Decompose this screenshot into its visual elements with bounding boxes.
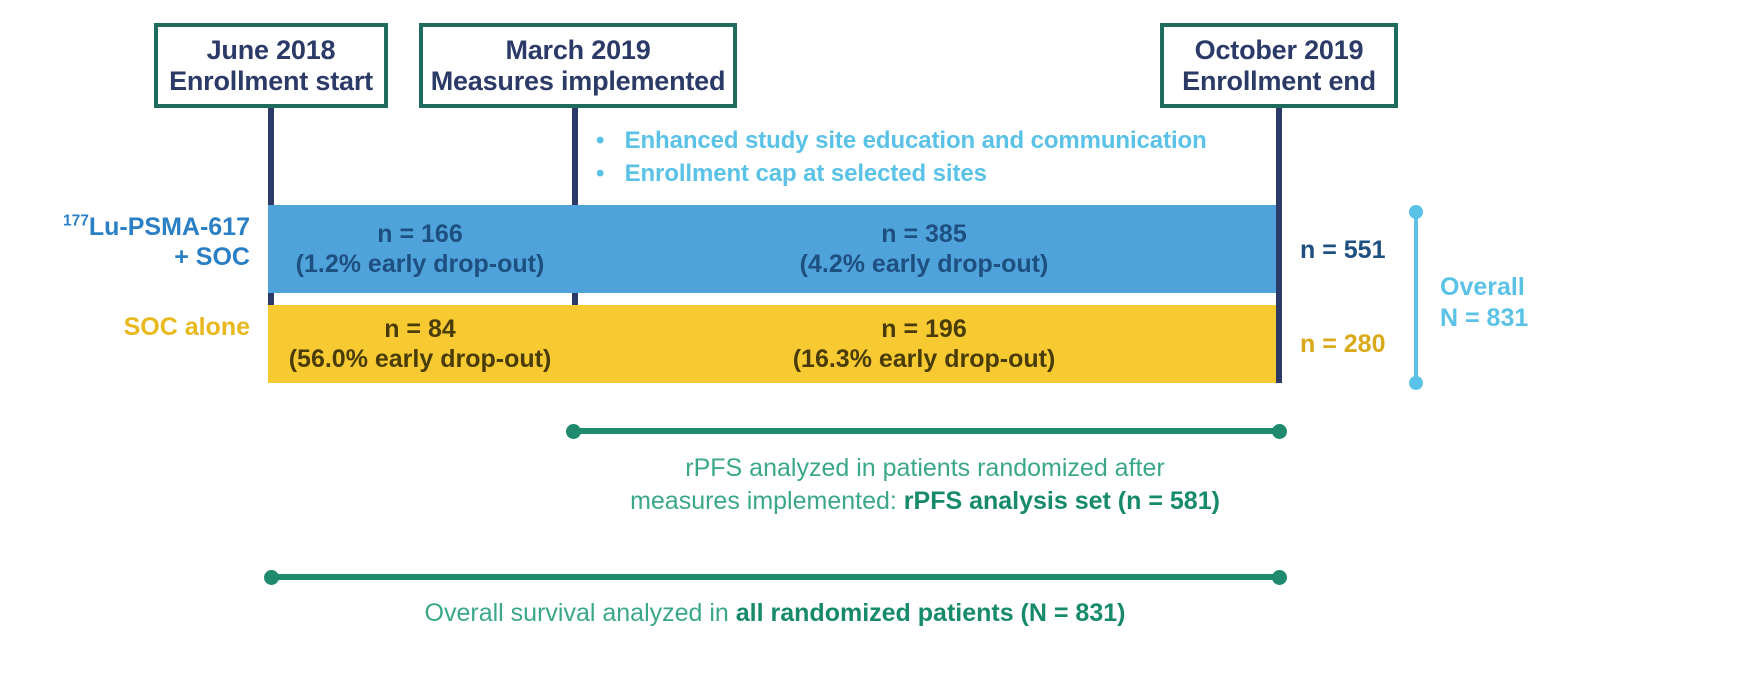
bullet-dot-icon: • [596,124,618,157]
band-soc-alone: n = 84 (56.0% early drop-out) n = 196 (1… [268,305,1276,383]
segment-count: n = 166 [377,219,462,250]
arm-total-lu-psma-617: n = 551 [1300,236,1385,265]
os-caption-bold: all randomized patients (N = 831) [736,599,1126,627]
segment-dropout: (4.2% early drop-out) [800,249,1049,280]
measures-bullet-item: • Enhanced study site education and comm… [596,124,1207,157]
arm-label-line-1: 177Lu-PSMA-617 [63,213,250,241]
milestone-box-enrollment-start: June 2018 Enrollment start [154,23,388,108]
segment-count: n = 196 [881,314,966,345]
os-caption-prefix: Overall survival analyzed in [425,599,736,627]
milestone-event: Enrollment start [158,66,384,97]
rpfs-caption-line-1: rPFS analyzed in patients randomized aft… [420,452,1430,485]
os-caption-line-1: Overall survival analyzed in all randomi… [270,597,1280,630]
trial-timeline-figure: June 2018 Enrollment start March 2019 Me… [0,0,1741,677]
arm-label-line-2: + SOC [174,243,250,271]
os-span-right-cap [1272,570,1287,585]
overall-bracket-bottom-cap [1409,376,1423,390]
milestone-event: Enrollment end [1164,66,1394,97]
measures-bullet-label: Enhanced study site education and commun… [625,127,1207,154]
rpfs-span-caption: rPFS analyzed in patients randomized aft… [420,452,1430,517]
arm-label-superscript: 177 [63,212,89,229]
milestone-date: June 2018 [207,35,336,65]
arm-label-lu-psma-617: 177Lu-PSMA-617 + SOC [0,212,250,272]
band-lu-psma-617: n = 166 (1.2% early drop-out) n = 385 (4… [268,205,1276,293]
milestone-date: October 2019 [1195,35,1364,65]
overall-label-line-2: N = 831 [1440,303,1528,334]
bullet-dot-icon: • [596,157,618,190]
band-segment-post-measures: n = 385 (4.2% early drop-out) [572,205,1276,293]
rpfs-caption-line-2: measures implemented: rPFS analysis set … [420,485,1430,518]
segment-count: n = 385 [881,219,966,250]
rpfs-span-right-cap [1272,424,1287,439]
segment-dropout: (16.3% early drop-out) [793,344,1056,375]
band-segment-pre-measures: n = 166 (1.2% early drop-out) [268,205,572,293]
milestone-event: Measures implemented [423,66,733,97]
band-segment-pre-measures: n = 84 (56.0% early drop-out) [268,305,572,383]
arm-total-soc-alone: n = 280 [1300,330,1385,359]
rpfs-span-line [573,428,1279,434]
measures-bullet-item: • Enrollment cap at selected sites [596,157,1207,190]
os-span-caption: Overall survival analyzed in all randomi… [270,597,1280,630]
overall-label-line-1: Overall [1440,272,1528,303]
arm-label-soc-alone: SOC alone [0,312,250,342]
overall-total-label: Overall N = 831 [1440,272,1528,333]
rpfs-caption-bold: rPFS analysis set (n = 581) [904,487,1220,515]
arm-label-line-1: SOC alone [124,313,250,341]
milestone-box-measures-implemented: March 2019 Measures implemented [419,23,737,108]
os-span-line [271,574,1279,580]
rpfs-caption-prefix: measures implemented: [630,487,904,515]
segment-dropout: (1.2% early drop-out) [296,249,545,280]
band-segment-post-measures: n = 196 (16.3% early drop-out) [572,305,1276,383]
measures-bullet-label: Enrollment cap at selected sites [625,160,987,187]
milestone-box-enrollment-end: October 2019 Enrollment end [1160,23,1398,108]
overall-bracket-line [1414,210,1418,383]
segment-dropout: (56.0% early drop-out) [289,344,552,375]
segment-count: n = 84 [384,314,456,345]
timeline-rule-enrollment-end [1276,108,1282,383]
milestone-date: March 2019 [505,35,650,65]
measures-bullet-list: • Enhanced study site education and comm… [596,124,1207,190]
